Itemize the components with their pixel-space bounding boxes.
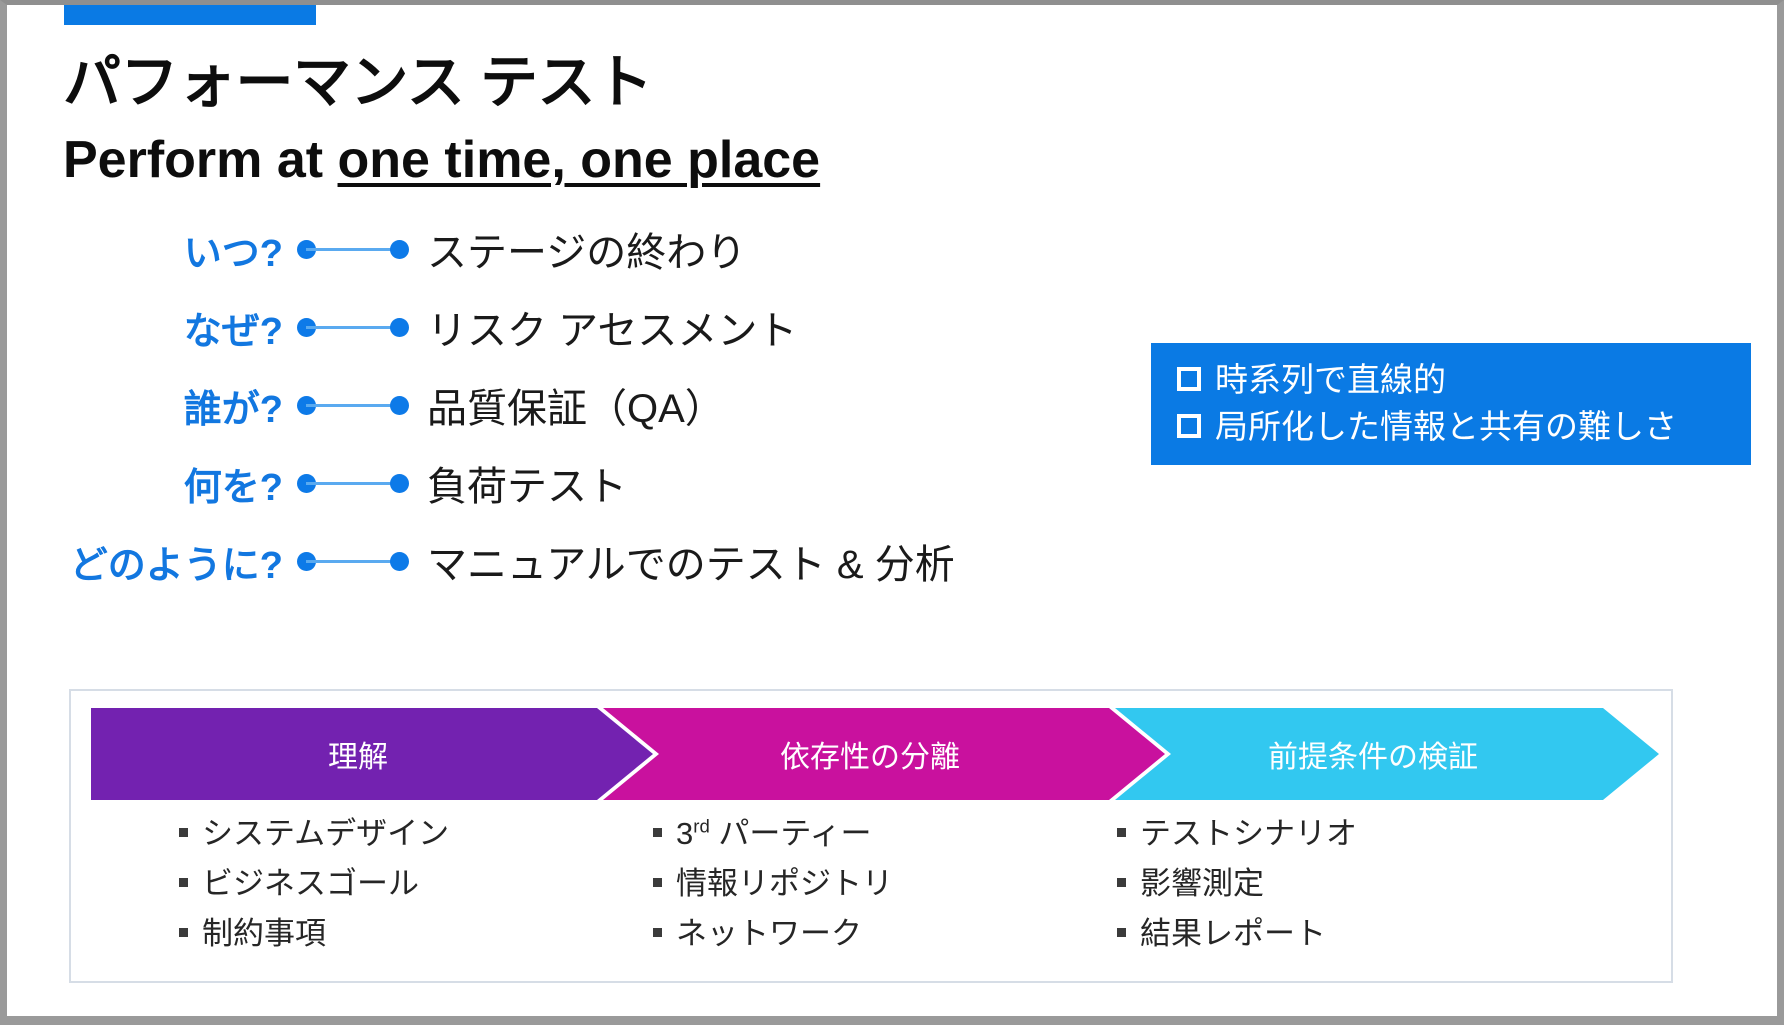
list-item-label: ビジネスゴール (202, 863, 419, 904)
connector-dot-right-icon (390, 318, 409, 337)
qa-row: 何を? 負荷テスト (7, 444, 1107, 522)
list-item-label: 影響測定 (1140, 863, 1264, 904)
connector-stroke-icon (306, 482, 400, 485)
list-item-label: 情報リポジトリ (676, 863, 893, 904)
list-item-label: 制約事項 (202, 913, 326, 954)
square-bullet-icon (653, 828, 662, 837)
qa-value-when: ステージの終わり (409, 220, 746, 278)
slide-title-japanese: パフォーマンス テスト (63, 53, 652, 114)
list-item: システムデザイン (179, 813, 449, 854)
checkbox-square-icon (1177, 414, 1201, 438)
slide-title-english-prefix: Perform at (63, 131, 338, 189)
callout-item: 局所化した情報と共有の難しさ (1177, 406, 1751, 447)
qa-value-who: 品質保証（QA） (409, 376, 725, 434)
chevron-step-1-label: 理解 (328, 732, 388, 776)
qa-value-how: マニュアルでのテスト & 分析 (409, 532, 955, 590)
qa-label-who: 誰が? (7, 378, 297, 433)
bullet-column-2: 3rd パーティー 情報リポジトリ ネットワーク (653, 813, 893, 964)
top-accent-bar (64, 5, 316, 25)
qa-row: いつ? ステージの終わり (7, 210, 1107, 288)
list-item: ネットワーク (653, 913, 893, 954)
connector-stroke-icon (306, 248, 400, 251)
connector-dot-right-icon (390, 396, 409, 415)
checkbox-square-icon (1177, 367, 1201, 391)
connector-line-icon (297, 394, 409, 416)
connector-stroke-icon (306, 560, 400, 563)
qa-label-when: いつ? (7, 222, 297, 277)
chevron-step-3-label: 前提条件の検証 (1268, 732, 1478, 776)
chevron-step-2: 依存性の分離 (603, 708, 1165, 800)
bullet-column-1: システムデザイン ビジネスゴール 制約事項 (179, 813, 449, 964)
list-item: 結果レポート (1117, 913, 1357, 954)
chevron-step-2-label: 依存性の分離 (780, 732, 960, 776)
chevron-step-3: 前提条件の検証 (1115, 708, 1659, 800)
list-item-label: 結果レポート (1140, 913, 1326, 954)
callout-item-label: 時系列で直線的 (1215, 359, 1446, 400)
connector-dot-right-icon (390, 474, 409, 493)
connector-line-icon (297, 472, 409, 494)
list-item-label: ネットワーク (676, 913, 862, 954)
list-item-label: テストシナリオ (1140, 813, 1357, 854)
square-bullet-icon (1117, 928, 1126, 937)
slide-title-english: Perform at one time, one place (63, 133, 820, 188)
list-item-label: システムデザイン (202, 813, 449, 854)
qa-value-why: リスク アセスメント (409, 298, 797, 356)
list-item: 影響測定 (1117, 863, 1357, 904)
list-item: ビジネスゴール (179, 863, 449, 904)
chevron-step-1: 理解 (91, 708, 653, 800)
slide-title-english-emphasis: one time, one place (338, 131, 821, 189)
list-item-label: 3rd パーティー (676, 813, 872, 854)
qa-value-what: 負荷テスト (409, 454, 627, 512)
bullet-column-3: テストシナリオ 影響測定 結果レポート (1117, 813, 1357, 964)
process-panel: 理解 依存性の分離 前提条件の検証 システムデザイン ビジネスゴール (69, 689, 1673, 983)
connector-dot-right-icon (390, 240, 409, 259)
list-item: テストシナリオ (1117, 813, 1357, 854)
qa-row: なぜ? リスク アセスメント (7, 288, 1107, 366)
list-item: 3rd パーティー (653, 813, 893, 854)
process-bullet-columns: システムデザイン ビジネスゴール 制約事項 3rd パーティー (71, 813, 1671, 973)
qa-label-how: どのように? (7, 534, 297, 589)
qa-label-why: なぜ? (7, 300, 297, 355)
square-bullet-icon (1117, 828, 1126, 837)
connector-line-icon (297, 316, 409, 338)
list-item: 情報リポジトリ (653, 863, 893, 904)
square-bullet-icon (179, 878, 188, 887)
connector-dot-right-icon (390, 552, 409, 571)
connector-line-icon (297, 238, 409, 260)
square-bullet-icon (179, 828, 188, 837)
square-bullet-icon (653, 928, 662, 937)
slide-canvas: パフォーマンス テスト Perform at one time, one pla… (0, 0, 1784, 1025)
qa-row: 誰が? 品質保証（QA） (7, 366, 1107, 444)
chevron-row: 理解 依存性の分離 前提条件の検証 (91, 708, 1659, 800)
square-bullet-icon (179, 928, 188, 937)
callout-item: 時系列で直線的 (1177, 359, 1751, 400)
callout-box: 時系列で直線的 局所化した情報と共有の難しさ (1151, 343, 1751, 465)
callout-item-label: 局所化した情報と共有の難しさ (1215, 406, 1677, 447)
qa-label-what: 何を? (7, 456, 297, 511)
square-bullet-icon (1117, 878, 1126, 887)
qa-row: どのように? マニュアルでのテスト & 分析 (7, 522, 1107, 600)
square-bullet-icon (653, 878, 662, 887)
connector-stroke-icon (306, 404, 400, 407)
connector-stroke-icon (306, 326, 400, 329)
connector-line-icon (297, 550, 409, 572)
qa-list: いつ? ステージの終わり なぜ? リスク アセスメント 誰が? (7, 210, 1107, 600)
list-item: 制約事項 (179, 913, 449, 954)
